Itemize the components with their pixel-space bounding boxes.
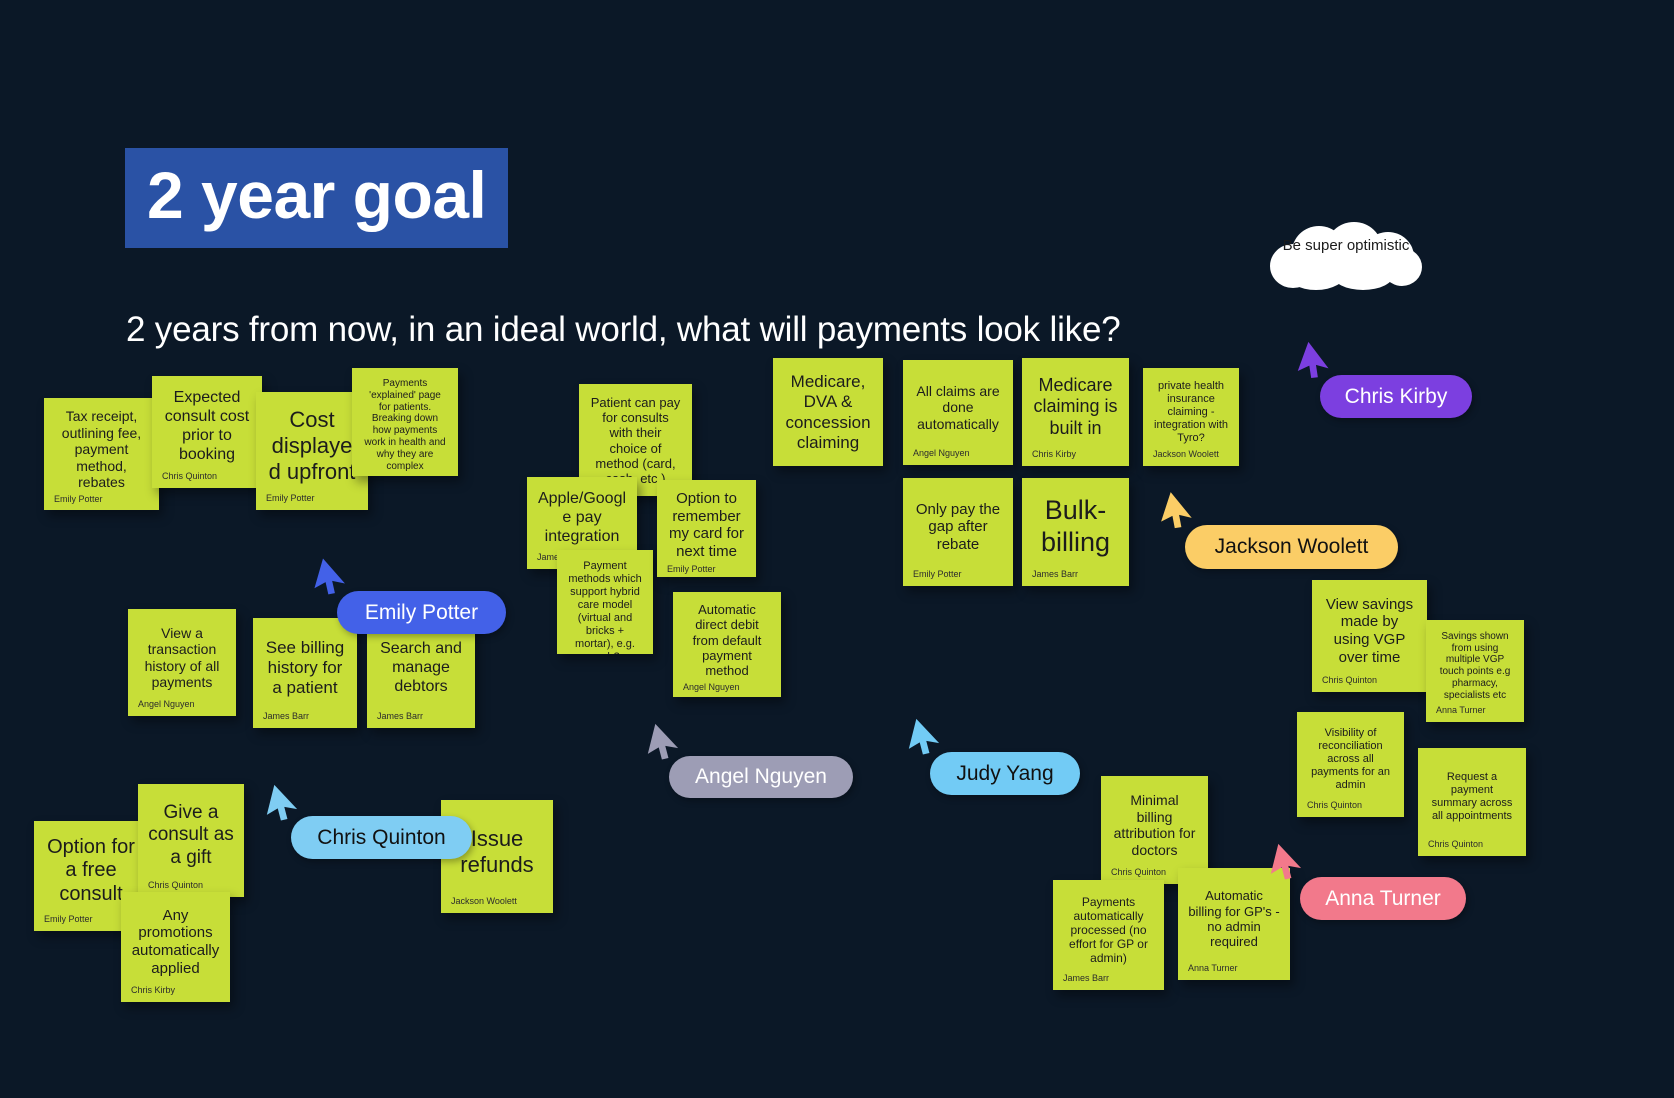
collaborator-pill-chris-kirby[interactable]: Chris Kirby — [1320, 375, 1472, 418]
sticky-note-author: Chris Quinton — [1307, 797, 1394, 811]
sticky-note-text: Any promotions automatically applied — [131, 902, 220, 982]
sticky-note-text: Payments 'explained' page for patients. … — [362, 378, 448, 472]
sticky-note-text: Medicare claiming is built in — [1032, 368, 1119, 446]
sticky-note-author: Jackson Woolett — [1153, 446, 1229, 460]
sticky-note-text: Payment methods which support hybrid car… — [567, 560, 643, 654]
page-title: 2 year goal — [147, 162, 486, 228]
sticky-note-author: Angel Nguyen — [913, 445, 1003, 459]
sticky-note-author: Chris Quinton — [1322, 672, 1417, 686]
sticky-note-author: James Barr — [1032, 566, 1119, 580]
sticky-note-text: Automatic direct debit from default paym… — [683, 602, 771, 679]
sticky-note-author: Anna Turner — [1436, 702, 1514, 716]
sticky-note[interactable]: View a transaction history of all paymen… — [128, 609, 236, 716]
sticky-note-text: Request a payment summary across all app… — [1428, 758, 1516, 836]
sticky-note[interactable]: Search and manage debtorsJames Barr — [367, 618, 475, 728]
cloud-label: Be super optimistic — [1270, 236, 1422, 256]
sticky-note[interactable]: private health insurance claiming - inte… — [1143, 368, 1239, 466]
miro-board-canvas[interactable]: 2 year goal 2 years from now, in an idea… — [0, 0, 1674, 1098]
sticky-note-author: Emily Potter — [667, 561, 746, 575]
sticky-note[interactable]: All claims are done automaticallyAngel N… — [903, 360, 1013, 465]
sticky-note-author: James Barr — [263, 708, 347, 722]
sticky-note-text: All claims are done automatically — [913, 370, 1003, 445]
cloud-shape[interactable]: Be super optimistic — [1270, 222, 1422, 290]
sticky-note-author: Emily Potter — [266, 490, 358, 504]
sticky-note[interactable]: Medicare claiming is built inChris Kirby — [1022, 358, 1129, 466]
sticky-note[interactable]: Give a consult as a giftChris Quinton — [138, 784, 244, 897]
sticky-note[interactable]: Savings shown from using multiple VGP to… — [1426, 620, 1524, 722]
collaborator-pill-angel-nguyen[interactable]: Angel Nguyen — [669, 756, 853, 798]
sticky-note[interactable]: Automatic billing for GP's - no admin re… — [1178, 868, 1290, 980]
sticky-note-text: Apple/Google pay integration — [537, 487, 627, 549]
sticky-note-author: Emily Potter — [913, 566, 1003, 580]
sticky-note[interactable]: See billing history for a patientJames B… — [253, 618, 357, 728]
sticky-note-author — [783, 457, 873, 460]
sticky-note-author: Angel Nguyen — [683, 679, 771, 693]
sticky-note[interactable]: Tax receipt, outlining fee, payment meth… — [44, 398, 159, 510]
collaborator-pill-chris-quinton[interactable]: Chris Quinton — [291, 816, 472, 859]
sticky-note-text: View savings made by using VGP over time — [1322, 590, 1417, 672]
sticky-note[interactable]: Request a payment summary across all app… — [1418, 748, 1526, 856]
sticky-note[interactable]: Expected consult cost prior to bookingCh… — [152, 376, 262, 488]
collaborator-pill-jackson-woolett[interactable]: Jackson Woolett — [1185, 525, 1398, 569]
sticky-note-text: See billing history for a patient — [263, 628, 347, 708]
sticky-note-text: Patient can pay for consults with their … — [589, 394, 682, 487]
sticky-note[interactable]: Medicare, DVA & concession claiming — [773, 358, 883, 466]
sticky-note-author: Chris Kirby — [1032, 446, 1119, 460]
sticky-note-text: Payments automatically processed (no eff… — [1063, 890, 1154, 970]
sticky-note-text: Bulk-billing — [1032, 488, 1119, 566]
sticky-note-author: Angel Nguyen — [138, 696, 226, 710]
sticky-note-author: Chris Kirby — [131, 982, 220, 996]
sticky-note-text: Only pay the gap after rebate — [913, 488, 1003, 566]
sticky-note[interactable]: Payment methods which support hybrid car… — [557, 550, 653, 654]
sticky-note-text: Option to remember my card for next time — [667, 490, 746, 561]
collaborator-pill-judy-yang[interactable]: Judy Yang — [930, 752, 1080, 795]
sticky-note-author: Chris Quinton — [148, 877, 234, 891]
sticky-note-text: Search and manage debtors — [377, 628, 465, 708]
sticky-note-text: Cost displayed upfront — [266, 402, 358, 490]
collaborator-pill-emily-potter[interactable]: Emily Potter — [337, 591, 506, 634]
sticky-note-text: Automatic billing for GP's - no admin re… — [1188, 878, 1280, 960]
sticky-note-author: Chris Quinton — [1428, 836, 1516, 850]
sticky-note[interactable]: View savings made by using VGP over time… — [1312, 580, 1427, 692]
sticky-note[interactable]: Payments automatically processed (no eff… — [1053, 880, 1164, 990]
board-title-block[interactable]: 2 year goal — [125, 148, 508, 248]
sticky-note-text: Savings shown from using multiple VGP to… — [1436, 630, 1514, 702]
sticky-note-author: Anna Turner — [1188, 960, 1280, 974]
sticky-note[interactable]: Option to remember my card for next time… — [657, 480, 756, 577]
sticky-note-text: Visibility of reconciliation across all … — [1307, 722, 1394, 797]
sticky-note-text: Medicare, DVA & concession claiming — [783, 368, 873, 457]
sticky-note[interactable]: Visibility of reconciliation across all … — [1297, 712, 1404, 817]
sticky-note-text: View a transaction history of all paymen… — [138, 619, 226, 696]
board-subtitle: 2 years from now, in an ideal world, wha… — [126, 310, 1121, 350]
sticky-note-author: Chris Quinton — [362, 472, 448, 476]
sticky-note[interactable]: Automatic direct debit from default paym… — [673, 592, 781, 697]
collaborator-pill-anna-turner[interactable]: Anna Turner — [1300, 877, 1466, 920]
sticky-note[interactable]: Only pay the gap after rebateEmily Potte… — [903, 478, 1013, 586]
sticky-note-text: private health insurance claiming - inte… — [1153, 378, 1229, 446]
sticky-note[interactable]: Payments 'explained' page for patients. … — [352, 368, 458, 476]
sticky-note-text: Expected consult cost prior to booking — [162, 386, 252, 468]
sticky-note-author: James Barr — [1063, 970, 1154, 984]
sticky-note-text: Give a consult as a gift — [148, 794, 234, 877]
sticky-note-text: Tax receipt, outlining fee, payment meth… — [54, 408, 149, 491]
cloud-puff — [1332, 258, 1394, 290]
sticky-note-author: Emily Potter — [54, 491, 149, 505]
sticky-note-text: Minimal billing attribution for doctors — [1111, 786, 1198, 864]
sticky-note-author: Chris Quinton — [162, 468, 252, 482]
sticky-note-author: James Barr — [377, 708, 465, 722]
sticky-note[interactable]: Bulk-billingJames Barr — [1022, 478, 1129, 586]
sticky-note[interactable]: Any promotions automatically appliedChri… — [121, 892, 230, 1002]
sticky-note-author: Jackson Woolett — [451, 893, 543, 907]
